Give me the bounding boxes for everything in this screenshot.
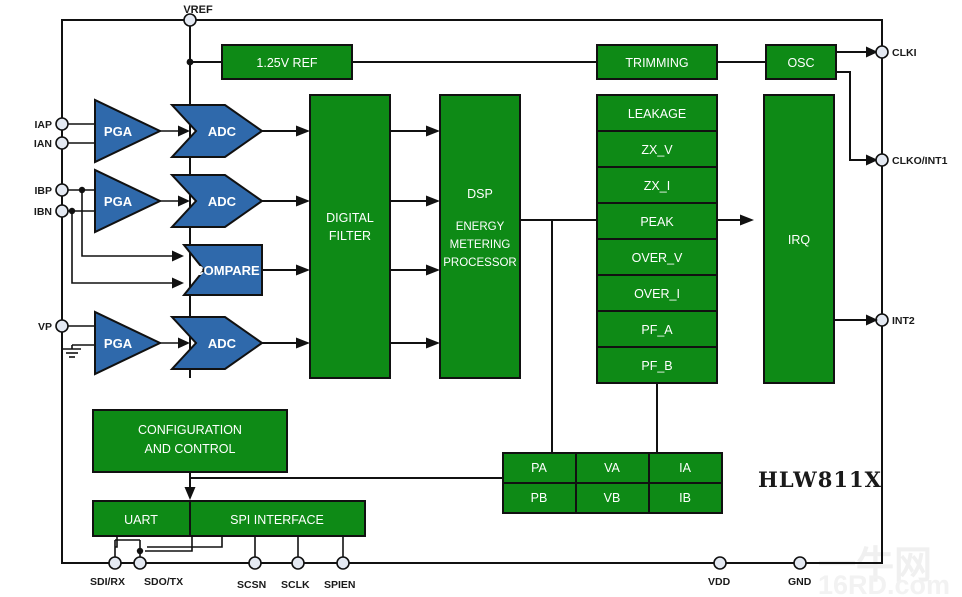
junction-dot: [187, 59, 194, 66]
pin-vdd[interactable]: [714, 557, 726, 569]
pin-label-sdo-tx: SDO/TX: [144, 576, 183, 588]
block-configuration-control: [93, 410, 287, 472]
block-adc-1-label: ADC: [208, 124, 237, 139]
block-dsp-line1: DSP: [467, 187, 493, 201]
block-uart-label: UART: [124, 513, 158, 527]
dsp-output-bus: [520, 220, 597, 478]
pin-gnd[interactable]: [794, 557, 806, 569]
pin-ibp[interactable]: [56, 184, 68, 196]
arrow-head: [178, 196, 190, 207]
arrow-head: [296, 338, 310, 349]
arrow-head: [178, 338, 190, 349]
register-cell-label: IB: [679, 491, 691, 505]
irq-source-label: ZX_I: [644, 179, 670, 193]
irq-source-label: LEAKAGE: [628, 107, 686, 121]
reference-chain: 1.25V REF TRIMMING OSC: [222, 45, 836, 79]
pin-vp[interactable]: [56, 320, 68, 332]
pin-label-clki: CLKI: [892, 47, 917, 59]
arrow-head: [296, 196, 310, 207]
block-digital-filter-line2: FILTER: [329, 229, 371, 243]
block-osc-label: OSC: [787, 56, 814, 70]
pin-label-spien: SPIEN: [324, 579, 356, 591]
irq-source-stack: LEAKAGE ZX_V ZX_I PEAK OVER_V OVER_I PF_…: [597, 95, 717, 383]
block-digital-filter-line1: DIGITAL: [326, 211, 374, 225]
uart-block[interactable]: UART: [93, 501, 190, 536]
pin-scsn[interactable]: [249, 557, 261, 569]
register-cell-pb[interactable]: PB: [503, 483, 576, 513]
arrow-head: [178, 126, 190, 137]
pin-label-ibp: IBP: [34, 185, 52, 197]
serial-interface-row: UART SPI INTERFACE: [93, 501, 365, 536]
pin-label-ian: IAN: [34, 138, 52, 150]
block-dsp-line2: ENERGY: [456, 221, 505, 233]
irq-source-label: OVER_V: [632, 251, 683, 265]
irq-source-label: OVER_I: [634, 287, 680, 301]
compare-stage[interactable]: COMPARE: [184, 245, 310, 295]
pin-sdo-tx[interactable]: [134, 557, 146, 569]
irq-source-label: PF_B: [641, 359, 672, 373]
adc-stage-1[interactable]: ADC: [172, 105, 310, 157]
config-to-interface-wire: [185, 472, 504, 500]
arrow-head: [296, 265, 310, 276]
pin-clko-int1[interactable]: [876, 154, 888, 166]
block-pga-2-label: PGA: [104, 194, 133, 209]
spi-interface-block[interactable]: SPI INTERFACE: [190, 501, 365, 536]
arrow-head: [296, 126, 310, 137]
irq-source-cell-pf-b[interactable]: PF_B: [597, 347, 717, 383]
irq-source-cell-over-i[interactable]: OVER_I: [597, 275, 717, 311]
register-cell-label: PB: [531, 491, 548, 505]
register-cell-va[interactable]: VA: [576, 453, 649, 483]
configuration-control-block[interactable]: CONFIGURATION AND CONTROL: [93, 410, 287, 472]
arrow-head: [172, 251, 184, 262]
block-dsp-line3: METERING: [450, 239, 511, 251]
register-cell-pa[interactable]: PA: [503, 453, 576, 483]
part-number-label: HLW811X: [758, 467, 882, 492]
pin-iap[interactable]: [56, 118, 68, 130]
arrow-head: [185, 487, 196, 500]
irq-source-cell-zx-v[interactable]: ZX_V: [597, 131, 717, 167]
block-diagram-canvas: 一牛网 16RD.com VREF 1.25V REF TRIMMING OSC…: [0, 0, 962, 597]
block-dsp-line4: PROCESSOR: [443, 257, 517, 269]
irq-source-label: ZX_V: [641, 143, 673, 157]
block-trimming-label: TRIMMING: [625, 56, 688, 70]
block-config-line2: AND CONTROL: [145, 442, 236, 456]
pin-sclk[interactable]: [292, 557, 304, 569]
register-table: PA VA IA PB VB IB: [503, 453, 722, 513]
register-cell-ia[interactable]: IA: [649, 453, 722, 483]
pin-label-scsn: SCSN: [237, 579, 266, 591]
block-compare-label: COMPARE: [194, 263, 260, 278]
dsp-block[interactable]: DSP ENERGY METERING PROCESSOR: [440, 95, 520, 378]
pin-label-ibn: IBN: [34, 206, 52, 218]
junction-dot: [137, 548, 143, 554]
irq-source-label: PEAK: [640, 215, 674, 229]
pin-label-clko-int1: CLKO/INT1: [892, 155, 948, 167]
filter-to-dsp-wires: [390, 126, 440, 349]
irq-source-cell-zx-i[interactable]: ZX_I: [597, 167, 717, 203]
block-config-line1: CONFIGURATION: [138, 423, 242, 437]
block-1v25-ref-label: 1.25V REF: [256, 56, 318, 70]
pin-label-vref: VREF: [183, 4, 213, 16]
pin-label-iap: IAP: [34, 119, 52, 131]
pin-label-int2: INT2: [892, 315, 915, 327]
pin-label-vp: VP: [38, 321, 52, 333]
irq-to-int2-wire: [834, 315, 878, 326]
adc-stage-3[interactable]: ADC: [172, 317, 310, 369]
irq-source-cell-leakage[interactable]: LEAKAGE: [597, 95, 717, 131]
right-pins: CLKI CLKO/INT1 INT2: [876, 46, 948, 327]
watermark-bottom-text: 16RD.com: [818, 570, 950, 597]
block-pga-3-label: PGA: [104, 336, 133, 351]
hlw811x-block-diagram: 一牛网 16RD.com VREF 1.25V REF TRIMMING OSC…: [0, 0, 962, 597]
register-cell-ib[interactable]: IB: [649, 483, 722, 513]
block-adc-2-label: ADC: [208, 194, 237, 209]
pin-label-sdi-rx: SDI/RX: [90, 576, 125, 588]
watermark: 一牛网 16RD.com: [818, 545, 950, 597]
register-cell-label: PA: [531, 461, 547, 475]
irq-source-label: PF_A: [641, 323, 673, 337]
pin-label-vdd: VDD: [708, 576, 731, 588]
register-cell-label: VA: [604, 461, 620, 475]
irq-source-cell-over-v[interactable]: OVER_V: [597, 239, 717, 275]
irq-source-cell-pf-a[interactable]: PF_A: [597, 311, 717, 347]
pin-spien[interactable]: [337, 557, 349, 569]
block-dsp: [440, 95, 520, 378]
register-cell-vb[interactable]: VB: [576, 483, 649, 513]
register-cell-label: IA: [679, 461, 691, 475]
pin-clki[interactable]: [876, 46, 888, 58]
block-spi-interface-label: SPI INTERFACE: [230, 513, 324, 527]
irq-block[interactable]: IRQ: [764, 95, 834, 383]
stack-to-irq-wire: [717, 215, 754, 226]
adc-stage-2[interactable]: ADC: [172, 175, 310, 227]
pin-label-gnd: GND: [788, 576, 812, 588]
ground-symbol: [63, 345, 95, 357]
pin-label-sclk: SCLK: [281, 579, 310, 591]
block-adc-3-label: ADC: [208, 336, 237, 351]
arrow-head: [172, 278, 184, 289]
digital-filter[interactable]: DIGITAL FILTER: [310, 95, 390, 378]
register-cell-label: VB: [604, 491, 621, 505]
pin-ian[interactable]: [56, 137, 68, 149]
clock-output-net: [836, 47, 878, 166]
bottom-pin-wires: [115, 536, 343, 563]
block-irq-label: IRQ: [788, 233, 811, 247]
irq-source-cell-peak[interactable]: PEAK: [597, 203, 717, 239]
pin-ibn[interactable]: [56, 205, 68, 217]
block-pga-1-label: PGA: [104, 124, 133, 139]
pin-sdi-rx[interactable]: [109, 557, 121, 569]
